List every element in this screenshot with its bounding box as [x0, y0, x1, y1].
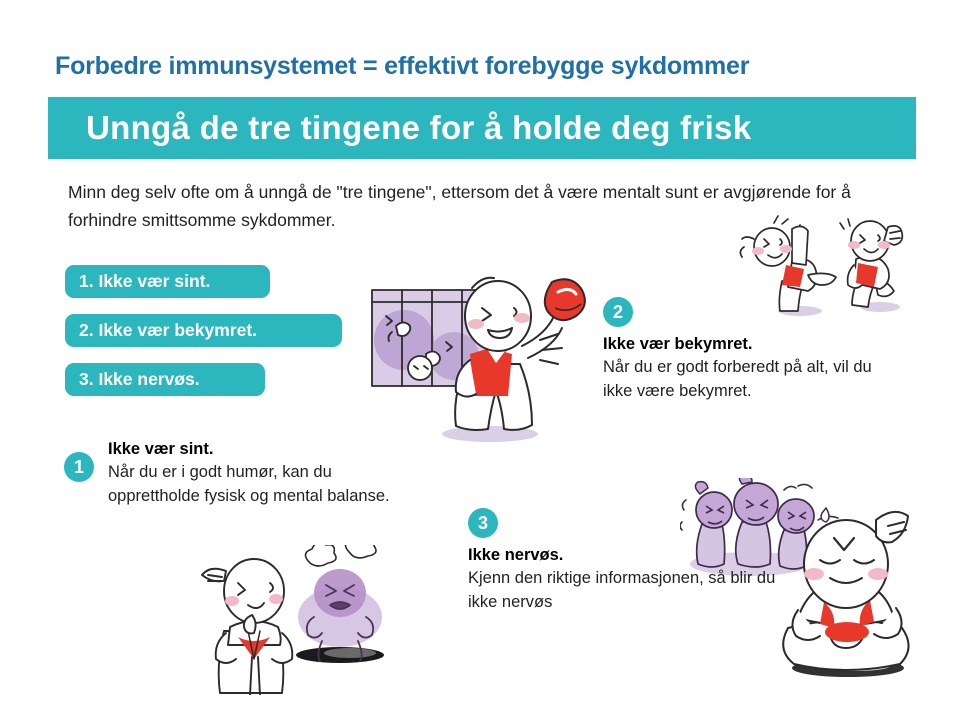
note-block-1: 1 Ikke vær sint. Når du er i godt humør,…: [64, 438, 414, 508]
page-kicker: Forbedre immunsystemet = effektivt foreb…: [55, 52, 749, 81]
title-banner: Unngå de tre tingene for å holde deg fri…: [48, 97, 916, 159]
number-badge-1: 1: [64, 452, 94, 482]
note-heading-2: Ikke vær bekymret.: [603, 333, 903, 355]
list-item-pill-3[interactable]: 3. Ikke nervøs.: [65, 363, 265, 396]
page-title: Unngå de tre tingene for å holde deg fri…: [86, 109, 751, 147]
list-item-pill-1[interactable]: 1. Ikke vær sint.: [65, 265, 270, 298]
note-body-3: Kjenn den riktige informasjonen, så blir…: [468, 566, 778, 614]
slide-canvas: Forbedre immunsystemet = effektivt foreb…: [0, 0, 960, 720]
note-heading-1: Ikke vær sint.: [108, 438, 414, 460]
list-item-pill-2[interactable]: 2. Ikke vær bekymret.: [65, 314, 342, 347]
note-body-1: Når du er i godt humør, kan du opprettho…: [108, 460, 414, 508]
number-badge-2: 2: [603, 297, 633, 327]
note-heading-3: Ikke nervøs.: [468, 544, 778, 566]
calm-figure-and-angry-ghost-illustration: [190, 545, 420, 695]
angry-person-punching-illustration: [362, 268, 594, 453]
note-block-2: 2 Ikke vær bekymret. Når du er godt forb…: [603, 297, 903, 403]
number-badge-3: 3: [468, 508, 498, 538]
note-body-2: Når du er godt forberedt på alt, vil du …: [603, 355, 903, 403]
note-block-3: 3 Ikke nervøs. Kjenn den riktige informa…: [468, 508, 778, 614]
